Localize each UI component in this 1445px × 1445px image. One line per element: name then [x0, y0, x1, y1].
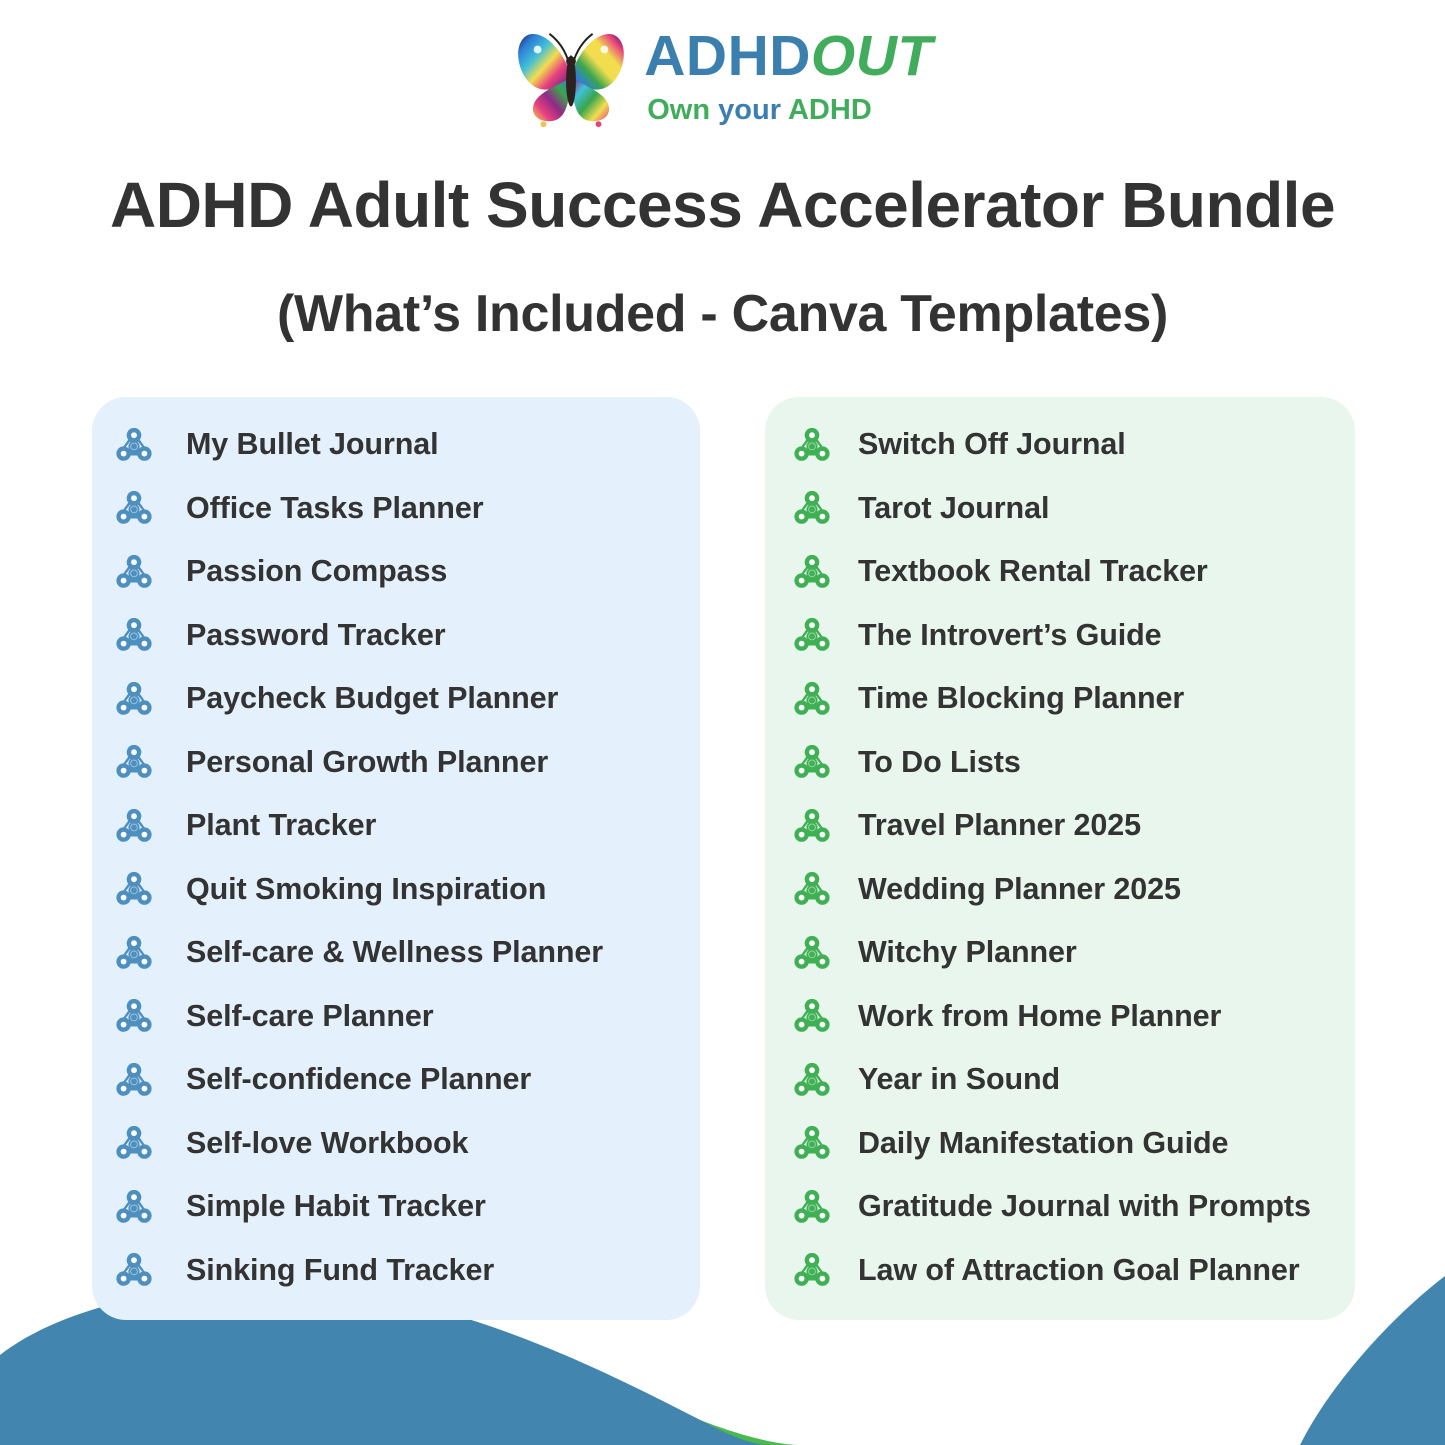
brand-name-adhd: ADHD [644, 24, 811, 88]
bundle-list-item-label: Year in Sound [858, 1062, 1060, 1097]
brand-name: ADHDOUT [644, 28, 932, 85]
fidget-spinner-icon [792, 869, 832, 909]
fidget-spinner-icon [792, 425, 832, 465]
fidget-spinner-icon [792, 488, 832, 528]
bundle-list-item: Textbook Rental Tracker [765, 540, 1355, 604]
page-title: ADHD Adult Success Accelerator Bundle [0, 168, 1445, 242]
bundle-list-item: Switch Off Journal [765, 413, 1355, 477]
bundle-list-item: Self-care Planner [92, 985, 700, 1049]
bundle-list-item: Daily Manifestation Guide [765, 1112, 1355, 1176]
fidget-spinner-icon [114, 488, 154, 528]
bundle-list-item: Self-care & Wellness Planner [92, 921, 700, 985]
page-subtitle: (What’s Included - Canva Templates) [0, 284, 1445, 344]
bundle-list-item-label: Self-care Planner [186, 999, 434, 1034]
fidget-spinner-icon [792, 996, 832, 1036]
bundle-list-item-label: Self-love Workbook [186, 1126, 468, 1161]
bundle-list-item-label: Paycheck Budget Planner [186, 681, 558, 716]
bundle-list-item: Witchy Planner [765, 921, 1355, 985]
fidget-spinner-icon [792, 806, 832, 846]
bundle-list-item-label: Simple Habit Tracker [186, 1189, 486, 1224]
fidget-spinner-icon [114, 806, 154, 846]
fidget-spinner-icon [792, 1187, 832, 1227]
bundle-list-item-label: Personal Growth Planner [186, 745, 548, 780]
bundle-list-item-label: My Bullet Journal [186, 427, 439, 462]
fidget-spinner-icon [792, 933, 832, 973]
bundle-list-item: Paycheck Budget Planner [92, 667, 700, 731]
bundle-list-item-label: Quit Smoking Inspiration [186, 872, 546, 907]
bundle-list-item-label: The Introvert’s Guide [858, 618, 1162, 653]
bundle-list-item-label: Law of Attraction Goal Planner [858, 1253, 1300, 1288]
fidget-spinner-icon [792, 1123, 832, 1163]
bundle-list-item: Personal Growth Planner [92, 731, 700, 795]
bundle-list-item-label: Textbook Rental Tracker [858, 554, 1208, 589]
bundle-list-item: Law of Attraction Goal Planner [765, 1239, 1355, 1303]
bundle-list-item: My Bullet Journal [92, 413, 700, 477]
bundle-list-item: Office Tasks Planner [92, 477, 700, 541]
bundle-list-item-label: Plant Tracker [186, 808, 376, 843]
fidget-spinner-icon [114, 679, 154, 719]
brand-wordmark: ADHDOUT Own your ADHD [644, 28, 932, 127]
fidget-spinner-icon [792, 742, 832, 782]
fidget-spinner-icon [114, 996, 154, 1036]
bundle-list-item-label: Travel Planner 2025 [858, 808, 1141, 843]
bundle-list-item: Quit Smoking Inspiration [92, 858, 700, 922]
bundle-list-item: Time Blocking Planner [765, 667, 1355, 731]
bundle-list-item-label: Office Tasks Planner [186, 491, 483, 526]
fidget-spinner-icon [792, 679, 832, 719]
bundle-list-item-label: Gratitude Journal with Prompts [858, 1189, 1311, 1224]
butterfly-icon [512, 22, 630, 132]
fidget-spinner-icon [114, 1250, 154, 1290]
bundle-list-item-label: Password Tracker [186, 618, 446, 653]
fidget-spinner-icon [114, 1187, 154, 1227]
bundle-list-item: Travel Planner 2025 [765, 794, 1355, 858]
fidget-spinner-icon [792, 615, 832, 655]
bundle-list-item: Self-confidence Planner [92, 1048, 700, 1112]
bundle-list-item-label: Passion Compass [186, 554, 447, 589]
bundle-list-item-label: Daily Manifestation Guide [858, 1126, 1228, 1161]
bundle-list-item: Year in Sound [765, 1048, 1355, 1112]
bundle-list-item-label: Self-confidence Planner [186, 1062, 531, 1097]
bundle-list-item: Simple Habit Tracker [92, 1175, 700, 1239]
bundle-list-item: To Do Lists [765, 731, 1355, 795]
brand-logo-row: ADHDOUT Own your ADHD [0, 22, 1445, 132]
bundle-list-item: Sinking Fund Tracker [92, 1239, 700, 1303]
bundle-list-item: Gratitude Journal with Prompts [765, 1175, 1355, 1239]
bundle-list-item-label: Switch Off Journal [858, 427, 1126, 462]
fidget-spinner-icon [792, 552, 832, 592]
bundle-list-item: Wedding Planner 2025 [765, 858, 1355, 922]
wave-green-left [0, 1309, 800, 1445]
fidget-spinner-icon [114, 425, 154, 465]
bundle-list-item-label: Time Blocking Planner [858, 681, 1184, 716]
tagline-adhd: ADHD [788, 94, 872, 126]
brand-name-out: OUT [811, 24, 933, 88]
bundle-list-item: Passion Compass [92, 540, 700, 604]
bundle-list-item-label: To Do Lists [858, 745, 1021, 780]
brand-tagline: Own your ADHD [647, 94, 872, 127]
fidget-spinner-icon [114, 869, 154, 909]
bundle-list-item-label: Work from Home Planner [858, 999, 1221, 1034]
fidget-spinner-icon [114, 1060, 154, 1100]
tagline-your: your [718, 94, 781, 126]
bundle-list-item-label: Wedding Planner 2025 [858, 872, 1181, 907]
fidget-spinner-icon [114, 742, 154, 782]
bundle-list-item-label: Witchy Planner [858, 935, 1077, 970]
fidget-spinner-icon [792, 1060, 832, 1100]
bundle-list-item: Self-love Workbook [92, 1112, 700, 1176]
fidget-spinner-icon [114, 933, 154, 973]
bundle-list-item-label: Tarot Journal [858, 491, 1049, 526]
tagline-own: Own [647, 94, 710, 126]
bundle-list-item-label: Self-care & Wellness Planner [186, 935, 603, 970]
bundle-list-panel-right: Switch Off JournalTarot JournalTextbook … [765, 397, 1355, 1320]
bundle-list-item: The Introvert’s Guide [765, 604, 1355, 668]
fidget-spinner-icon [114, 615, 154, 655]
fidget-spinner-icon [114, 1123, 154, 1163]
bundle-list-item: Password Tracker [92, 604, 700, 668]
bundle-list-item: Tarot Journal [765, 477, 1355, 541]
bundle-list-item: Work from Home Planner [765, 985, 1355, 1049]
bundle-list-item: Plant Tracker [92, 794, 700, 858]
wave-green-right [1340, 1290, 1445, 1445]
fidget-spinner-icon [792, 1250, 832, 1290]
fidget-spinner-icon [114, 552, 154, 592]
bundle-list-panel-left: My Bullet JournalOffice Tasks PlannerPas… [92, 397, 700, 1320]
bundle-list-item-label: Sinking Fund Tracker [186, 1253, 494, 1288]
